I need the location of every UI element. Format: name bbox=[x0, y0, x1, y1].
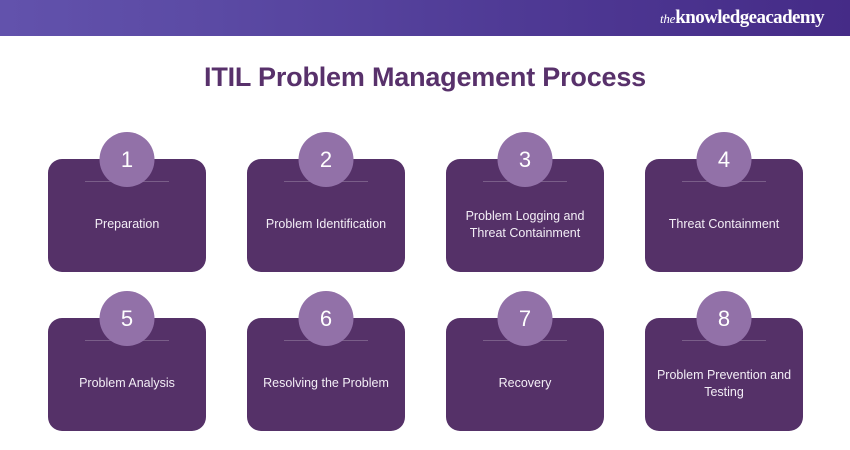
brand-logo: theknowledgeacademy bbox=[660, 7, 850, 29]
step-label: Problem Logging and Threat Containment bbox=[455, 208, 595, 242]
process-step-card: 4 Threat Containment bbox=[645, 132, 803, 272]
step-label: Problem Analysis bbox=[79, 375, 175, 392]
step-label: Problem Identification bbox=[266, 216, 386, 233]
process-steps-grid: 1 Preparation 2 Problem Identification 3… bbox=[48, 132, 802, 431]
step-number-badge: 8 bbox=[697, 291, 752, 346]
process-step-card: 3 Problem Logging and Threat Containment bbox=[446, 132, 604, 272]
page-title: ITIL Problem Management Process bbox=[0, 62, 850, 93]
brand-academy-text: academy bbox=[756, 7, 824, 29]
step-number-badge: 4 bbox=[697, 132, 752, 187]
process-step-card: 8 Problem Prevention and Testing bbox=[645, 291, 803, 431]
step-label: Threat Containment bbox=[669, 216, 779, 233]
process-step-card: 2 Problem Identification bbox=[247, 132, 405, 272]
process-step-card: 5 Problem Analysis bbox=[48, 291, 206, 431]
step-label: Preparation bbox=[95, 216, 160, 233]
step-number-badge: 5 bbox=[100, 291, 155, 346]
header-bar: theknowledgeacademy bbox=[0, 0, 850, 36]
step-label: Resolving the Problem bbox=[263, 375, 389, 392]
process-step-card: 7 Recovery bbox=[446, 291, 604, 431]
process-step-card: 6 Resolving the Problem bbox=[247, 291, 405, 431]
step-number-badge: 1 bbox=[100, 132, 155, 187]
step-label: Problem Prevention and Testing bbox=[654, 367, 794, 401]
brand-prefix-text: the bbox=[660, 11, 675, 27]
step-number-badge: 3 bbox=[498, 132, 553, 187]
brand-knowledge-text: knowledge bbox=[675, 7, 756, 29]
process-step-card: 1 Preparation bbox=[48, 132, 206, 272]
step-number-badge: 2 bbox=[299, 132, 354, 187]
step-number-badge: 6 bbox=[299, 291, 354, 346]
step-label: Recovery bbox=[499, 375, 552, 392]
step-number-badge: 7 bbox=[498, 291, 553, 346]
